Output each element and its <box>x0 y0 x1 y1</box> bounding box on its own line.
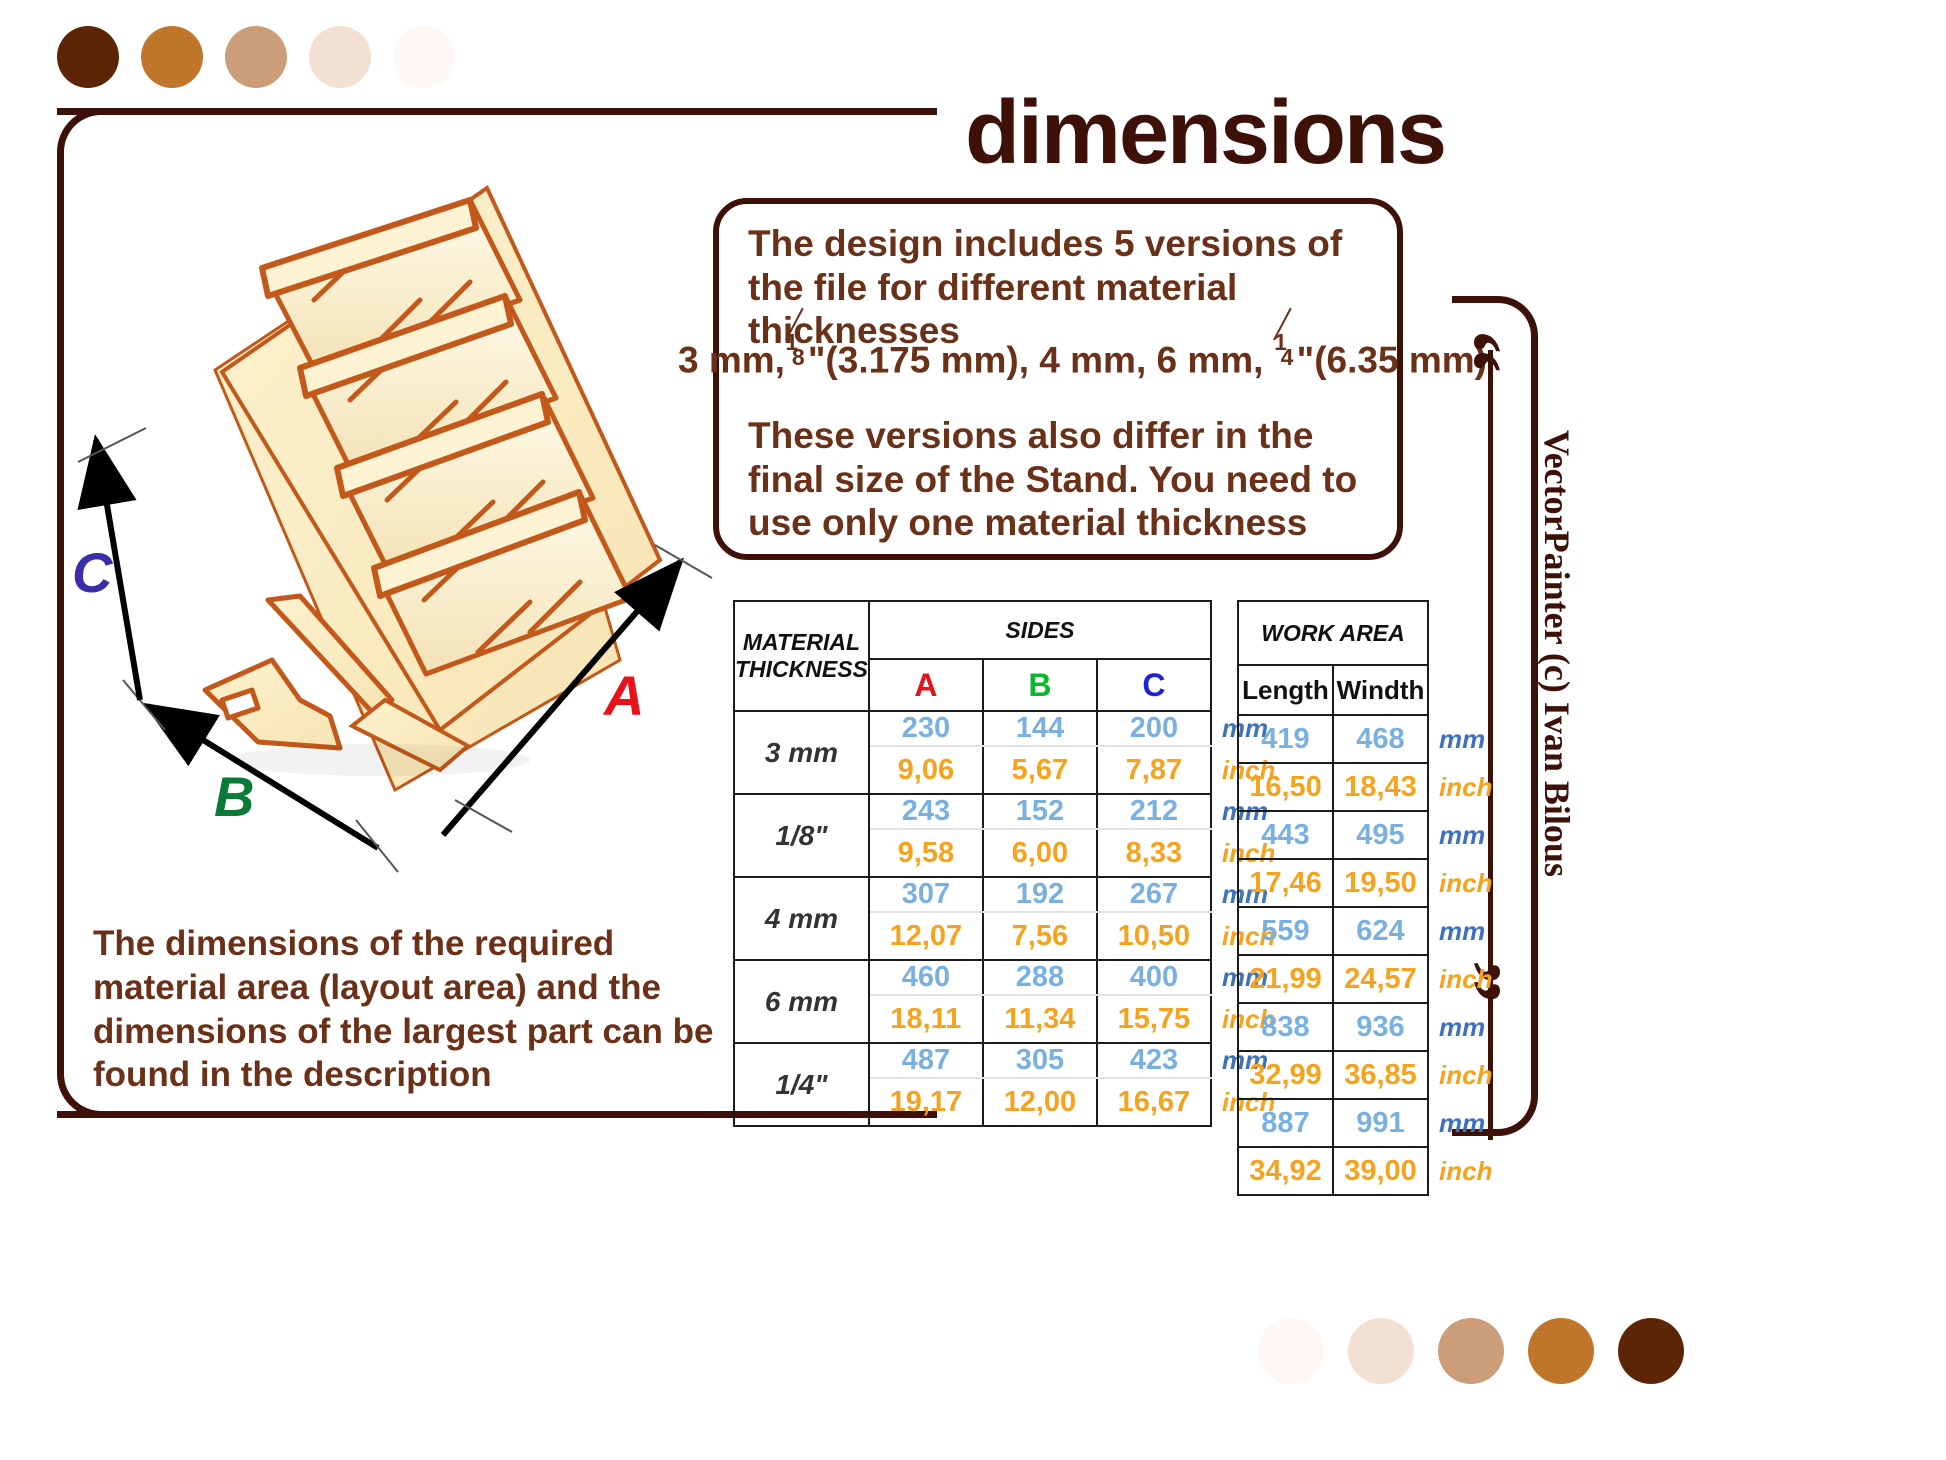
color-swatch-3 <box>309 26 371 88</box>
color-swatch-2 <box>1438 1318 1504 1384</box>
color-swatch-0 <box>57 26 119 88</box>
thickness-mid: "(3.175 mm), 4 mm, 6 mm, <box>808 339 1274 380</box>
info-line-3: These versions also differ in the final … <box>748 414 1388 545</box>
color-swatch-2 <box>225 26 287 88</box>
color-swatch-4 <box>393 26 455 88</box>
fraction-one-quarter: 14 <box>1274 336 1297 373</box>
frame-bottom-edge <box>57 1111 727 1118</box>
color-swatches-top <box>57 26 455 88</box>
frac2-denominator: 4 <box>1281 344 1294 371</box>
poster-canvas: dimensions The design includes 5 version… <box>0 0 1946 1460</box>
dimension-label-c: C <box>72 540 112 605</box>
frac1-denominator: 8 <box>792 344 805 371</box>
thickness-3mm: 3 mm, <box>678 339 785 380</box>
color-swatches-bottom <box>1258 1318 1684 1384</box>
color-swatch-0 <box>1258 1318 1324 1384</box>
dimension-label-a: A <box>604 663 644 728</box>
frame-top-edge <box>57 108 857 115</box>
page-title: dimensions <box>930 88 1480 178</box>
info-line-2: 3 mm,18"(3.175 mm), 4 mm, 6 mm, 14"(6.35… <box>678 336 1468 382</box>
fraction-one-eighth: 18 <box>785 336 808 373</box>
watermark-text: VectorPainter (c) Ivan Bilous <box>1536 430 1578 877</box>
color-swatch-1 <box>141 26 203 88</box>
sides-table: MATERIALTHICKNESSSIDESABC3 mm230144200mm… <box>733 600 1296 1127</box>
color-swatch-1 <box>1348 1318 1414 1384</box>
color-swatch-3 <box>1528 1318 1594 1384</box>
dimension-label-b: B <box>214 764 254 829</box>
work-area-table: WORK AREALengthWindth419468mm16,5018,43i… <box>1237 600 1513 1196</box>
description-note: The dimensions of the required material … <box>93 922 723 1097</box>
quote-open-icon: “ <box>1422 330 1522 373</box>
color-swatch-4 <box>1618 1318 1684 1384</box>
info-line-1: The design includes 5 versions of the fi… <box>748 222 1388 353</box>
